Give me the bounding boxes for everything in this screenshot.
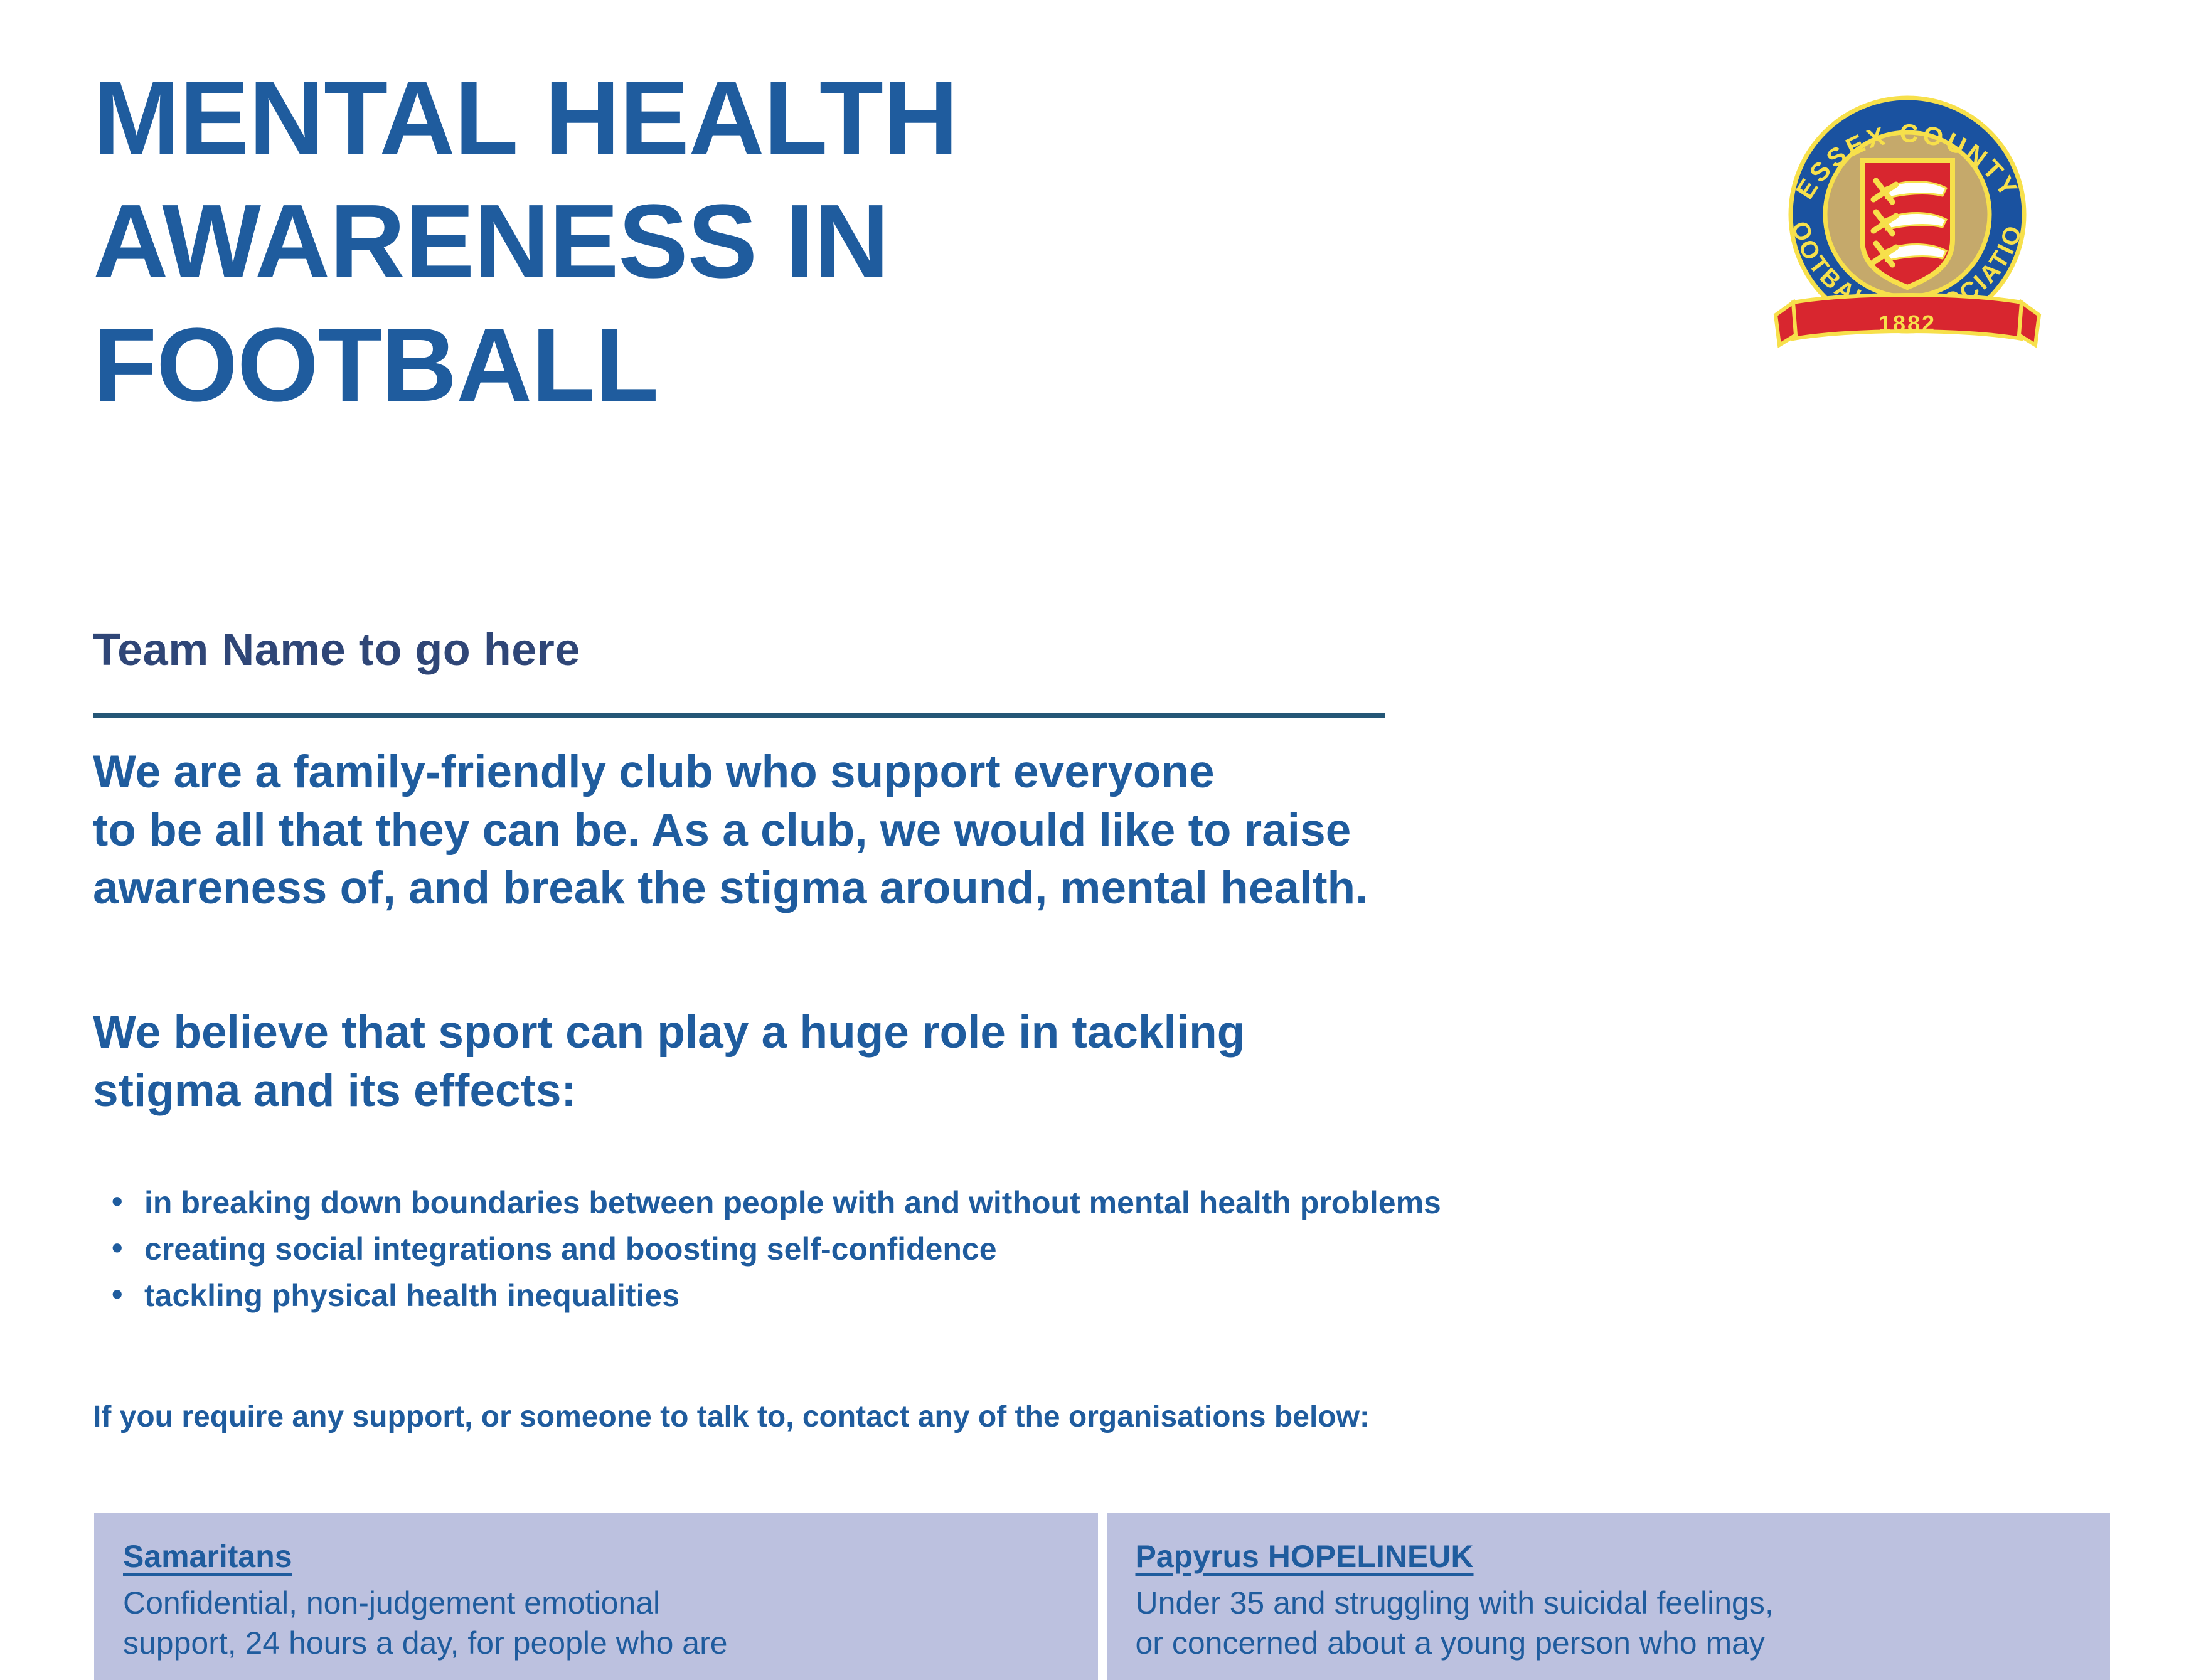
intro-paragraph: We are a family-friendly club who suppor…: [93, 743, 1850, 918]
crest-year: 1882: [1879, 311, 1936, 336]
essex-shield: [1862, 161, 1953, 287]
contact-organisations: Samaritans Confidential, non-judgement e…: [94, 1513, 2110, 1680]
contact-card-papyrus: Papyrus HOPELINEUK Under 35 and struggli…: [1107, 1513, 2111, 1680]
contact-description: Confidential, non-judgement emotional su…: [123, 1583, 1069, 1663]
team-name-placeholder[interactable]: Team Name to go here: [93, 627, 580, 673]
contact-description: Under 35 and struggling with suicidal fe…: [1136, 1583, 2082, 1663]
benefits-list: in breaking down boundaries between peop…: [93, 1179, 2086, 1319]
support-call-to-action: If you require any support, or someone t…: [93, 1399, 2038, 1435]
list-item: in breaking down boundaries between peop…: [141, 1179, 2086, 1226]
contact-card-samaritans: Samaritans Confidential, non-judgement e…: [94, 1513, 1098, 1680]
contact-name[interactable]: Samaritans: [123, 1539, 292, 1574]
list-item: tackling physical health inequalities: [141, 1272, 2086, 1319]
page-title: MENTAL HEALTH AWARENESS IN FOOTBALL: [93, 56, 1410, 427]
contact-name[interactable]: Papyrus HOPELINEUK: [1136, 1539, 1474, 1574]
list-item: creating social integrations and boostin…: [141, 1226, 2086, 1272]
poster-page: MENTAL HEALTH AWARENESS IN FOOTBALL ESSE…: [0, 0, 2201, 1680]
team-name-divider: [93, 713, 1385, 718]
essex-county-fa-logo: ESSEX COUNTY FOOTBALL ASSOCIATION: [1757, 69, 2058, 370]
crest-banner: 1882: [1776, 295, 2039, 345]
belief-paragraph: We believe that sport can play a huge ro…: [93, 1004, 1850, 1120]
